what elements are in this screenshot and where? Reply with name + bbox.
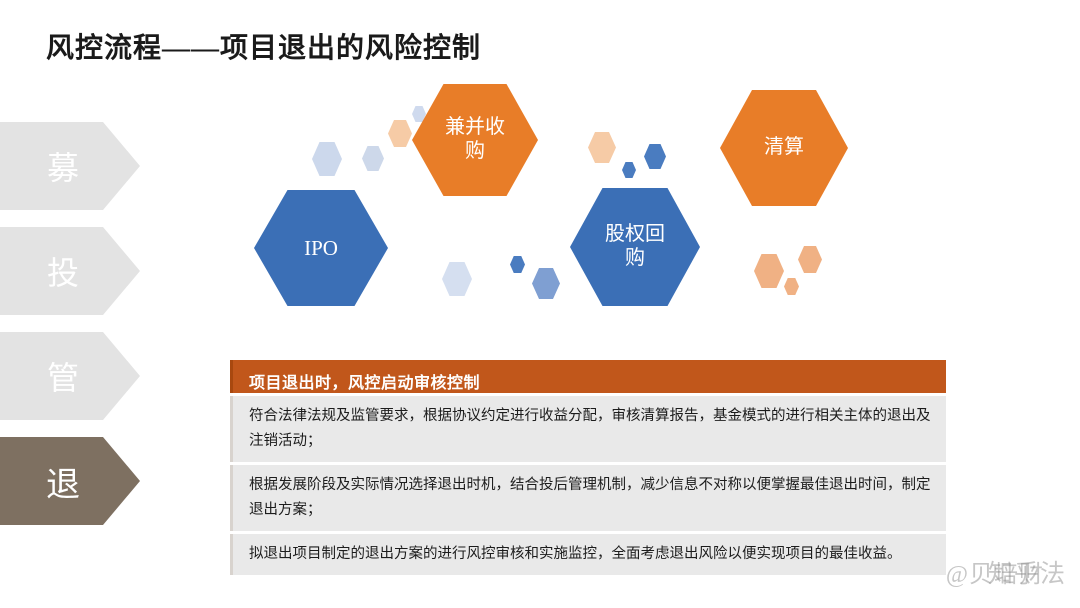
decor-hexagon-blue-1: [644, 144, 666, 169]
hexagon-liquidation-label: 清算: [758, 136, 810, 160]
process-stage-rail: 募 投 管 退: [0, 122, 148, 542]
hexagon-ipo[interactable]: IPO: [254, 190, 388, 306]
hexagon-equity-buyback[interactable]: 股权回购: [570, 188, 700, 306]
hexagon-merger-acquisition[interactable]: 兼并收购: [412, 84, 538, 196]
rail-item-label: 投: [47, 248, 79, 294]
rail-item-exit[interactable]: 退: [0, 437, 140, 525]
decor-hexagon-orange-1: [754, 254, 784, 288]
panel-row: 根据发展阶段及实际情况选择退出时机，结合投后管理机制，减少信息不对称以便掌握最佳…: [230, 465, 946, 531]
hexagon-liquidation[interactable]: 清算: [720, 90, 848, 206]
decor-hexagon-blue-2: [622, 162, 636, 178]
decor-hexagon-pale-blue-2: [362, 146, 384, 171]
decor-hexagon-orange-3: [784, 278, 799, 295]
decor-hexagon-pale-orange-1: [388, 120, 412, 147]
rail-item-label: 管: [47, 353, 79, 399]
rail-item-label: 募: [47, 143, 79, 189]
page-title: 风控流程——项目退出的风险控制: [46, 26, 481, 66]
panel-header: 项目退出时，风控启动审核控制: [230, 360, 946, 393]
decor-hexagon-blue-3: [510, 256, 525, 273]
slide-canvas: 风控流程——项目退出的风险控制 募 投 管 退 IPO: [0, 0, 1080, 608]
decor-hexagon-orange-2: [798, 246, 822, 273]
decor-hexagon-pale-blue-1: [312, 142, 342, 176]
panel-row: 符合法律法规及监管要求，根据协议约定进行收益分配，审核清算报告，基金模式的进行相…: [230, 396, 946, 462]
watermark-secondary: @贝培财: [946, 554, 1044, 589]
hexagon-equity-buyback-label: 股权回购: [591, 223, 679, 270]
exit-route-diagram: IPO 兼并收购 股权回购 清算: [240, 70, 920, 320]
rail-item-invest[interactable]: 投: [0, 227, 140, 315]
decor-hexagon-pale-blue-4: [442, 262, 472, 296]
panel-row: 拟退出项目制定的退出方案的进行风控审核和实施监控，全面考虑退出风险以便实现项目的…: [230, 534, 946, 575]
exit-control-panel: 项目退出时，风控启动审核控制 符合法律法规及监管要求，根据协议约定进行收益分配，…: [230, 360, 946, 575]
rail-item-manage[interactable]: 管: [0, 332, 140, 420]
rail-item-raise[interactable]: 募: [0, 122, 140, 210]
hexagon-ipo-label: IPO: [298, 236, 344, 261]
rail-item-label: 退: [46, 457, 80, 506]
hexagon-merger-acquisition-label: 兼并收购: [433, 116, 517, 163]
decor-hexagon-pale-orange-2: [588, 132, 616, 163]
decor-hexagon-blue-4: [532, 268, 560, 299]
